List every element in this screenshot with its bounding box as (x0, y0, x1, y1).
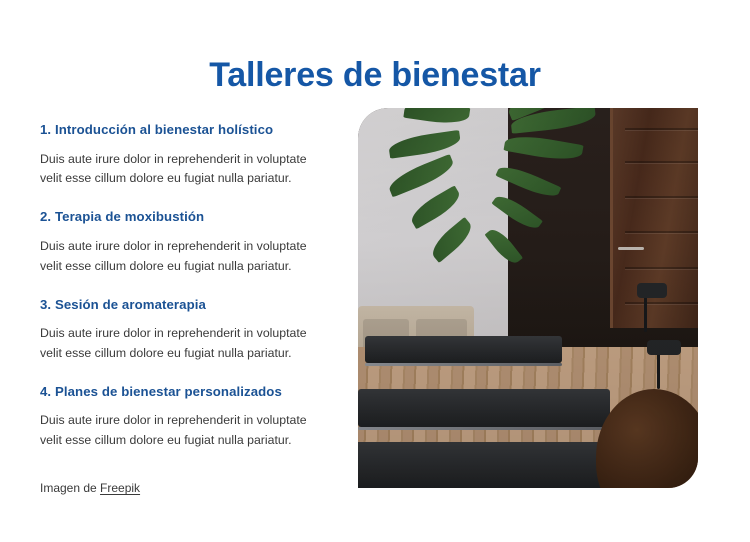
list-item-text: Duis aute irure dolor in reprehenderit i… (40, 150, 318, 190)
image-credit-prefix: Imagen de (40, 481, 100, 495)
list-item: 1. Introducción al bienestar holístico D… (40, 122, 325, 189)
list-item-text: Duis aute irure dolor in reprehenderit i… (40, 237, 318, 277)
list-item: 3. Sesión de aromaterapia Duis aute irur… (40, 297, 325, 364)
content-area: 1. Introducción al bienestar holístico D… (0, 108, 750, 490)
list-item-title: 1. Introducción al bienestar holístico (40, 122, 325, 139)
workshop-photo (358, 108, 698, 488)
pilates-reformer-mid (358, 389, 610, 427)
list-item-text: Duis aute irure dolor in reprehenderit i… (40, 324, 318, 364)
potted-plant (440, 108, 603, 328)
list-item-text: Duis aute irure dolor in reprehenderit i… (40, 411, 318, 451)
photo-illustration (358, 108, 698, 488)
list-item-title: 4. Planes de bienestar personalizados (40, 384, 325, 401)
list-item: 4. Planes de bienestar personalizados Du… (40, 384, 325, 451)
workshop-list: 1. Introducción al bienestar holístico D… (40, 122, 325, 497)
page-title: Talleres de bienestar (0, 57, 750, 94)
freepik-link[interactable]: Freepik (100, 481, 140, 495)
wellness-workshops-page: Talleres de bienestar 1. Introducción al… (0, 0, 750, 542)
list-item-title: 3. Sesión de aromaterapia (40, 297, 325, 314)
list-item: 2. Terapia de moxibustión Duis aute irur… (40, 209, 325, 276)
image-credit: Imagen de Freepik (40, 479, 325, 497)
door-handle-icon (618, 247, 645, 250)
pilates-reformer-back (365, 336, 562, 363)
list-item-title: 2. Terapia de moxibustión (40, 209, 325, 226)
